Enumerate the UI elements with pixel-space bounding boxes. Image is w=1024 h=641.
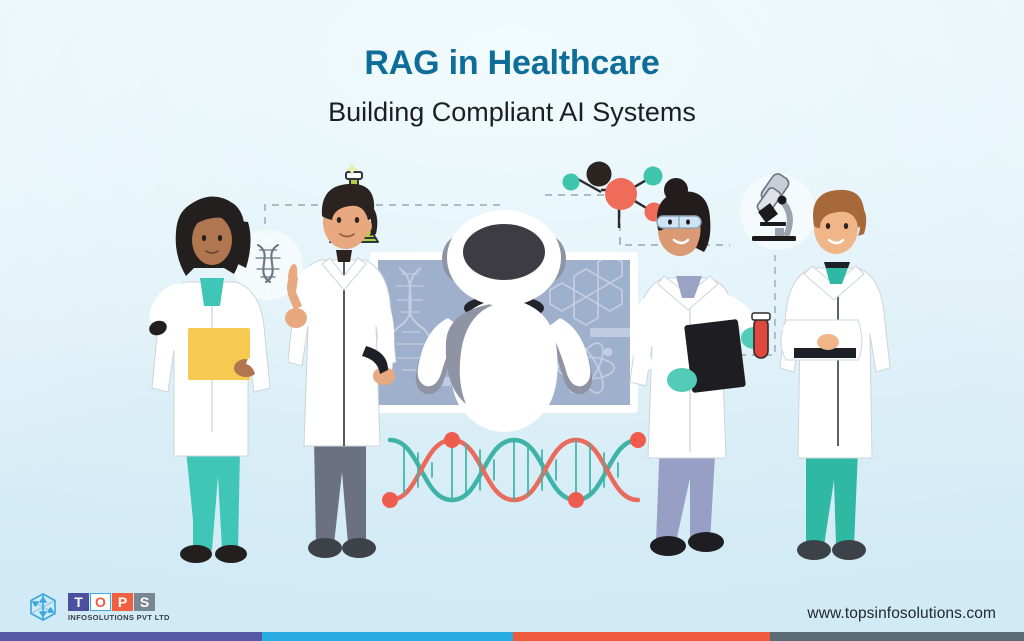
logo-wordmark: T O P S INFOSOLUTIONS PVT LTD xyxy=(68,593,170,622)
microscope-icon-badge xyxy=(740,172,816,250)
person-doctor-male-pointing xyxy=(285,184,396,558)
footer-bar-segment-orange xyxy=(513,632,770,641)
molecule-atom-dark xyxy=(587,162,612,187)
tops-cube-icon xyxy=(26,590,60,624)
page-subtitle: Building Compliant AI Systems xyxy=(0,97,1024,128)
logo-tile-s: S xyxy=(134,593,155,611)
footer-bar-segment-slate xyxy=(770,632,1024,641)
molecule-atom-teal-2 xyxy=(644,167,663,186)
banner-root: RAG in Healthcare Building Compliant AI … xyxy=(0,0,1024,641)
hair-bun xyxy=(664,178,688,202)
person-doctor-male-armscrossed xyxy=(780,190,890,560)
logo-tile-p: P xyxy=(112,593,133,611)
molecule-atom-teal-1 xyxy=(563,174,580,191)
title-block: RAG in Healthcare Building Compliant AI … xyxy=(0,44,1024,128)
test-tube xyxy=(754,318,768,358)
robot-visor xyxy=(463,224,545,280)
page-title: RAG in Healthcare xyxy=(0,44,1024,83)
logo-letter-tiles: T O P S xyxy=(68,593,170,611)
glove-left xyxy=(667,368,697,392)
website-url[interactable]: www.topsinfosolutions.com xyxy=(807,605,996,623)
footer-bar-segment-cyan xyxy=(262,632,513,641)
footer-color-bar xyxy=(0,632,1024,641)
footer-bar-segment-purple xyxy=(0,632,262,641)
logo-tagline: INFOSOLUTIONS PVT LTD xyxy=(68,613,170,622)
foreground-dna-helix xyxy=(382,432,646,508)
molecule-atom-center xyxy=(605,178,637,210)
logo-tile-o: O xyxy=(90,593,111,611)
company-logo[interactable]: T O P S INFOSOLUTIONS PVT LTD xyxy=(26,590,170,624)
illustration-scene xyxy=(0,150,1024,590)
logo-tile-t: T xyxy=(68,593,89,611)
